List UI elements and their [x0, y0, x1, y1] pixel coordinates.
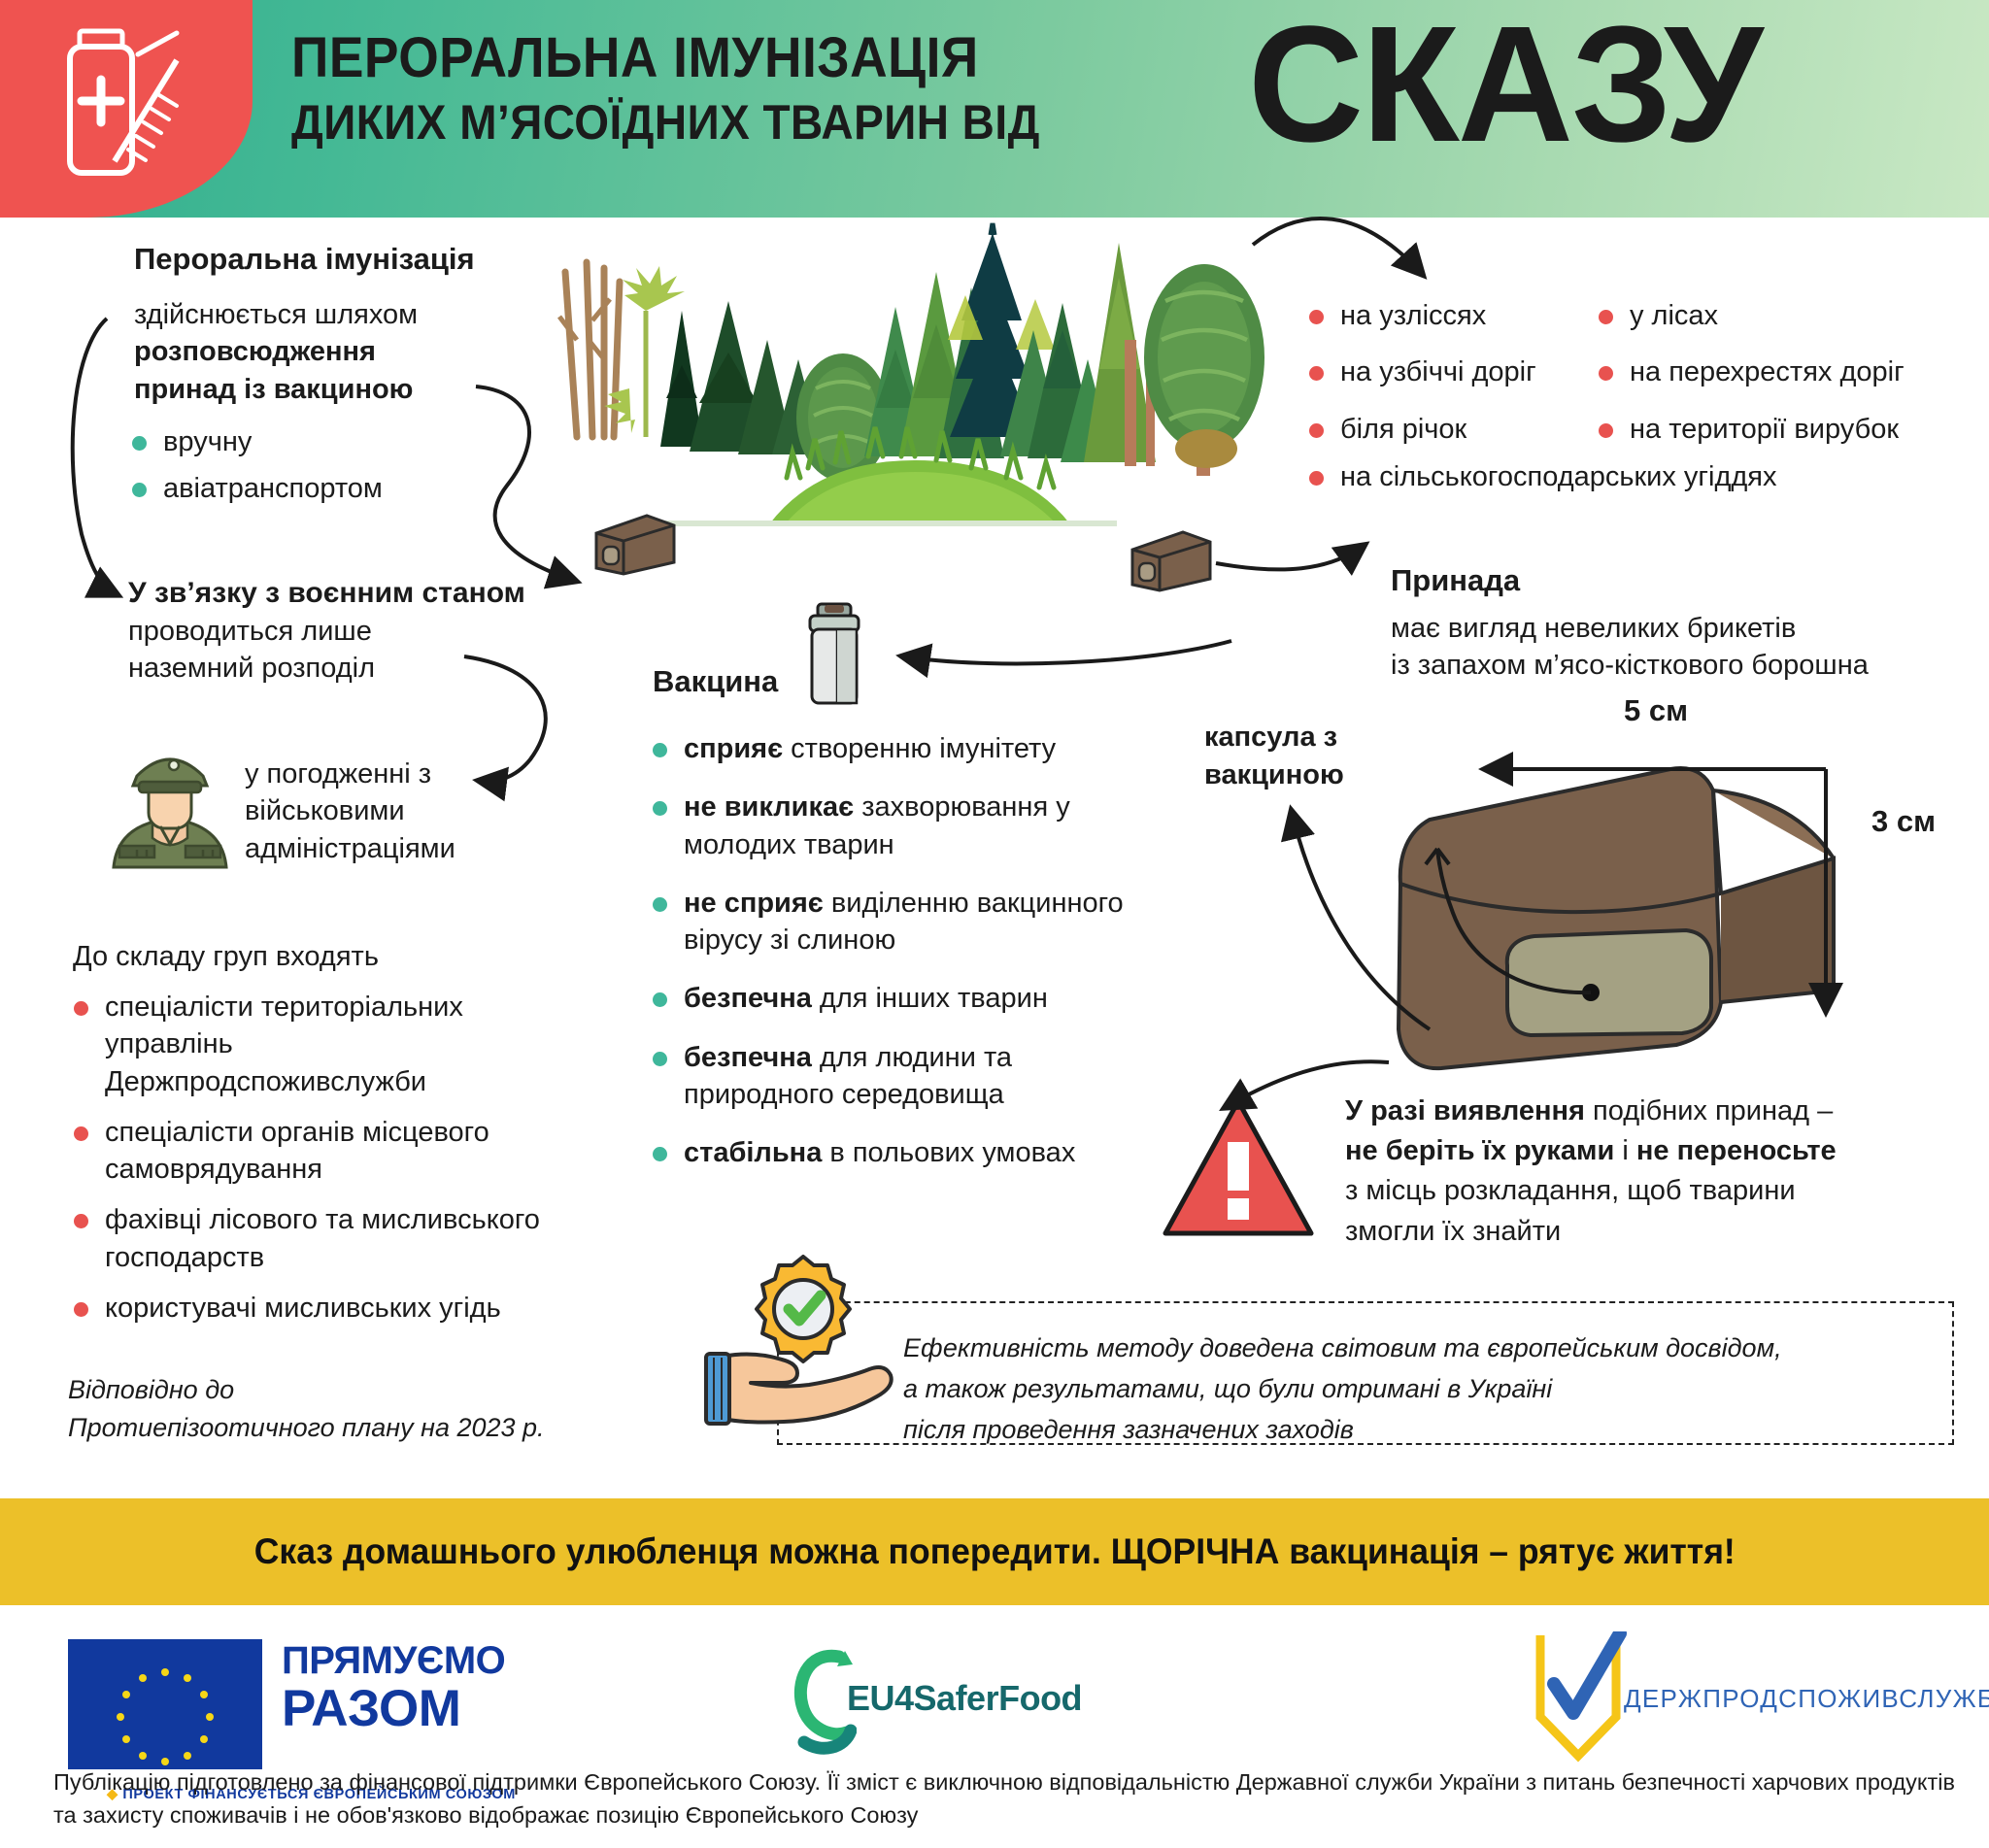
list-item: стабільна в польових умовах	[645, 1134, 1130, 1171]
vaccine-properties-list: сприяє створенню імунітету не викликає з…	[645, 730, 1130, 1193]
location-label: у лісах	[1630, 300, 1718, 331]
effectiveness-line-1: Ефективність методу доведена світовим та…	[903, 1333, 1782, 1362]
groups-list: спеціалісти територіальних управлінь Дер…	[66, 989, 552, 1340]
list-item: у лісах	[1591, 297, 1989, 334]
section-heading-vaccine: Вакцина	[653, 662, 944, 701]
list-item: спеціалісти територіальних управлінь Дер…	[66, 989, 552, 1100]
title-line-1: ПЕРОРАЛЬНА ІМУНІЗАЦІЯ	[291, 29, 1185, 88]
capsule-label-line-2: вакциною	[1204, 759, 1344, 790]
list-item: спеціалісти органів місцевого самоврядув…	[66, 1114, 552, 1189]
list-item: вручну	[124, 423, 513, 460]
vaccine-prop-bold: безпечна	[684, 983, 812, 1014]
location-label: біля річок	[1340, 414, 1466, 445]
disclaimer-line-1: Публікацію підготовлено за фінансової пі…	[53, 1769, 1955, 1795]
bait-width-dimension: 5 см	[1624, 693, 1688, 728]
location-label: на території вирубок	[1630, 414, 1899, 445]
title-line-2: ДИКИХ М’ЯСОЇДНИХ ТВАРИН ВІД	[291, 96, 1185, 150]
agreement-line-1: у погодженні з	[245, 758, 431, 790]
section-heading-bait: Принада	[1391, 561, 1799, 600]
group-label: фахівці лісового та мисливського господа…	[105, 1204, 540, 1272]
locations-list-wide: на сільськогосподарських угіддях	[1301, 458, 1981, 505]
agreement-line-2: військовими	[245, 795, 405, 826]
plan-footnote: Відповідно до Протиепізоотичного плану н…	[68, 1371, 573, 1447]
eu4saferfood-logo-text: EU4SaferFood	[847, 1678, 1082, 1719]
list-item: не сприяє виділенню вакцинного вірусу зі…	[645, 885, 1130, 959]
bait-brick-icon-left	[590, 508, 680, 578]
footnote-line-1: Відповідно до	[68, 1375, 234, 1404]
vaccine-vial-syringe-icon	[45, 25, 200, 190]
locations-list-column-2: у лісах на перехрестях доріг на територі…	[1591, 297, 1989, 467]
bait-desc-line-2: із запахом м’ясо-кісткового борошна	[1391, 650, 1869, 681]
list-item: на сільськогосподарських угіддях	[1301, 458, 1981, 495]
disclaimer-line-2: та захисту споживачів і не обов'язково в…	[53, 1802, 918, 1828]
distribution-methods-list: вручну авіатранспортом	[124, 423, 513, 518]
lead-bold-line-2: принад із вакциною	[134, 374, 413, 405]
location-label: на перехрестях доріг	[1630, 356, 1905, 387]
bait-brick-icon-right	[1127, 524, 1216, 594]
list-item: фахівці лісового та мисливського господа…	[66, 1201, 552, 1276]
warning-plain-2: і	[1614, 1135, 1636, 1166]
bait-description: має вигляд невеликих брикетів із запахом…	[1391, 610, 1989, 685]
agreement-line-3: адміністраціями	[245, 833, 455, 864]
capsule-label-line-1: капсула з	[1204, 722, 1337, 753]
lead-bold-line-1: розповсюдження	[134, 336, 376, 367]
banner-text: Сказ домашнього улюбленця можна попереди…	[254, 1531, 1736, 1572]
method-label: авіатранспортом	[163, 473, 383, 504]
list-item: біля річок	[1301, 411, 1612, 448]
lead-plain-text: здійснюється шляхом	[134, 299, 418, 330]
vaccine-prop-bold: безпечна	[684, 1042, 812, 1073]
footer-logos: ПРЯМУЄМО РАЗОМ ◆ ПРОЕКТ ФІНАНСУЄТЬСЯ ЄВР…	[0, 1631, 1989, 1748]
oral-immunization-lead: здійснюється шляхом розповсюдження прина…	[134, 296, 523, 408]
eu-flag-icon	[68, 1639, 262, 1769]
warning-bold-3: не переносьте	[1636, 1135, 1837, 1166]
list-item: авіатранспортом	[124, 470, 513, 507]
warning-line-4: змогли їх знайти	[1345, 1216, 1561, 1247]
list-item: користувачі мисливських угідь	[66, 1290, 552, 1327]
vaccine-prop-bold: стабільна	[684, 1137, 822, 1168]
warning-triangle-icon	[1161, 1095, 1316, 1239]
list-item: безпечна для людини та природного середо…	[645, 1039, 1130, 1114]
call-to-action-banner: Сказ домашнього улюбленця можна попереди…	[0, 1498, 1989, 1605]
military-agreement-text: у погодженні з військовими адміністрація…	[245, 756, 536, 867]
martial-law-line-2: наземний розподіл	[128, 653, 375, 684]
martial-law-block: У зв’язку з воєнним станом проводиться л…	[128, 574, 565, 687]
vaccine-prop-rest: створенню імунітету	[783, 733, 1056, 764]
bait-desc-line-1: має вигляд невеликих брикетів	[1391, 613, 1796, 644]
martial-law-line-1: проводиться лише	[128, 616, 372, 647]
vaccine-prop-bold: не сприяє	[684, 888, 824, 919]
derzhprodspozhyvsluzhba-shield-icon	[1525, 1631, 1632, 1767]
list-item: на перехрестях доріг	[1591, 353, 1989, 390]
warning-line-3: з місць розкладання, щоб тварини	[1345, 1175, 1796, 1206]
effectiveness-line-2: а також результатами, що були отримані в…	[903, 1374, 1552, 1403]
location-label: на узліссях	[1340, 300, 1486, 331]
title-highlight-word: СКАЗУ	[1248, 2, 1762, 167]
footnote-line-2: Протиепізоотичного плану на 2023 р.	[68, 1413, 545, 1442]
group-label: спеціалісти територіальних управлінь Дер…	[105, 991, 463, 1097]
derzhprodspozhyvsluzhba-logo-text: ДЕРЖПРОДСПОЖИВСЛУЖБА	[1624, 1684, 1989, 1714]
location-label: на узбіччі доріг	[1340, 356, 1536, 387]
list-item: на узліссях	[1301, 297, 1612, 334]
vaccine-prop-bold: сприяє	[684, 733, 783, 764]
warning-plain-1: подібних принад –	[1585, 1095, 1833, 1126]
list-item: безпечна для інших тварин	[645, 980, 1130, 1017]
locations-list-column-1: на узліссях на узбіччі доріг біля річок	[1301, 297, 1612, 467]
effectiveness-text: Ефективність методу доведена світовим та…	[903, 1328, 1933, 1451]
footer-disclaimer: Публікацію підготовлено за фінансової пі…	[53, 1765, 1957, 1831]
header-banner: ПЕРОРАЛЬНА ІМУНІЗАЦІЯ ДИКИХ М’ЯСОЇДНИХ Т…	[0, 0, 1989, 218]
list-item: на території вирубок	[1591, 411, 1989, 448]
groups-heading: До складу груп входять	[73, 938, 558, 975]
bait-3d-illustration	[1379, 748, 1884, 1078]
martial-law-bold: У зв’язку з воєнним станом	[128, 577, 525, 609]
list-item: на узбіччі доріг	[1301, 353, 1612, 390]
section-heading-oral-immunization: Пероральна імунізація	[134, 240, 542, 279]
eu-logo-line-1: ПРЯМУЄМО	[282, 1641, 505, 1680]
warning-bold-2: не беріть їх руками	[1345, 1135, 1614, 1166]
vaccine-prop-bold: не викликає	[684, 791, 854, 823]
group-label: спеціалісти органів місцевого самоврядув…	[105, 1117, 489, 1185]
group-label: користувачі мисливських угідь	[105, 1293, 501, 1324]
warning-text: У разі виявлення подібних принад – не бе…	[1345, 1092, 1989, 1252]
vaccine-prop-rest: для інших тварин	[812, 983, 1048, 1014]
method-label: вручну	[163, 426, 252, 457]
hand-holding-gear-check-icon	[704, 1255, 918, 1444]
list-item: не викликає захворювання у молодих твари…	[645, 789, 1130, 863]
bait-height-dimension: 3 см	[1871, 804, 1936, 839]
eu-logo-line-2: РАЗОМ	[282, 1683, 505, 1734]
list-item: сприяє створенню імунітету	[645, 730, 1130, 767]
effectiveness-line-3: після проведення зазначених заходів	[903, 1415, 1354, 1444]
soldier-icon	[92, 733, 248, 869]
eu-programme-logo-text: ПРЯМУЄМО РАЗОМ	[282, 1641, 505, 1734]
location-label: на сільськогосподарських угіддях	[1340, 461, 1777, 492]
page-title: ПЕРОРАЛЬНА ІМУНІЗАЦІЯ ДИКИХ М’ЯСОЇДНИХ Т…	[291, 14, 1962, 208]
vaccine-prop-rest: в польових умовах	[822, 1137, 1075, 1168]
warning-bold-1: У разі виявлення	[1345, 1095, 1585, 1126]
